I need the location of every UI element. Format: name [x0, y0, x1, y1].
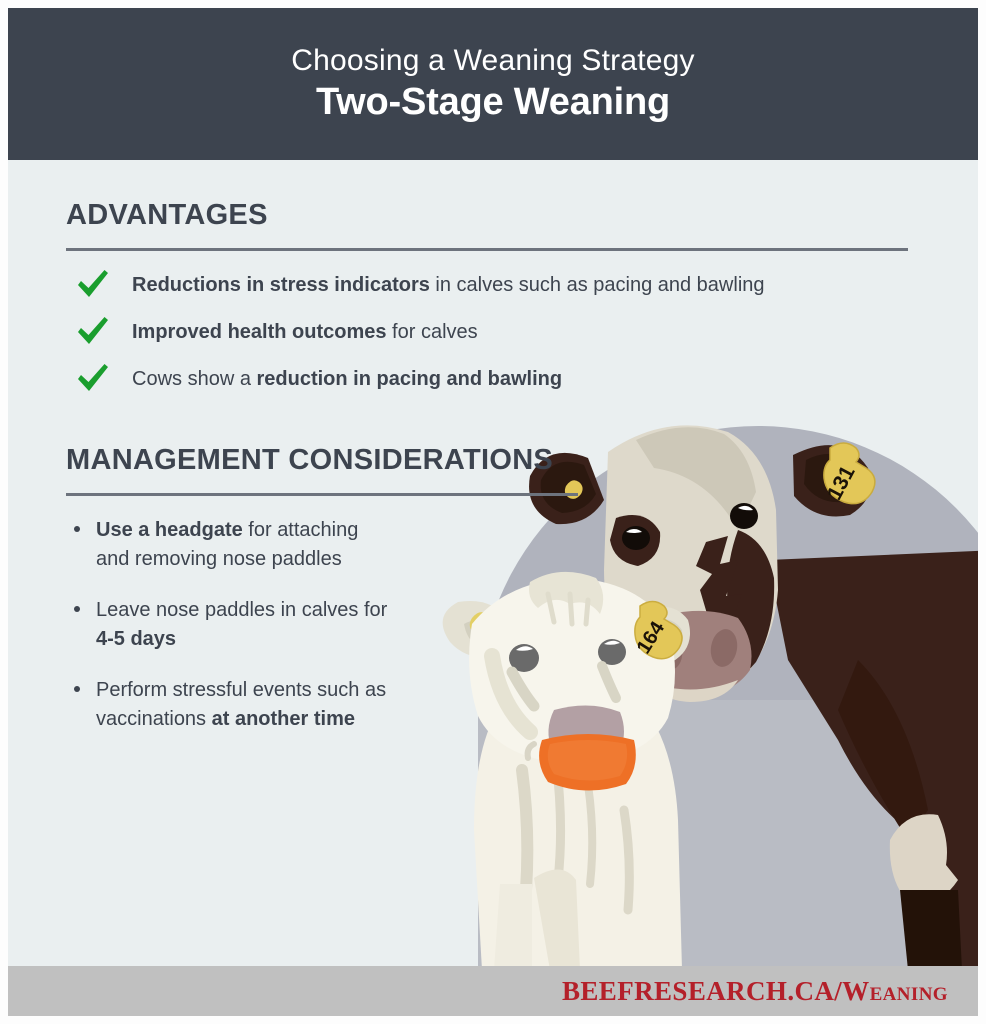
- management-item: Leave nose paddles in calves for 4-5 day…: [66, 596, 396, 654]
- management-list: Use a headgate for attaching and removin…: [66, 516, 396, 734]
- advantage-text: Reductions in stress indicators in calve…: [132, 274, 765, 296]
- cow-ear-tag: 131: [823, 443, 875, 504]
- advantage-item: Cows show a reduction in pacing and bawl…: [66, 367, 926, 392]
- advantage-item: Improved health outcomes for calves: [66, 320, 926, 345]
- advantages-divider: [66, 248, 908, 251]
- green-checkmark-icon: [76, 316, 110, 346]
- beefresearch-url[interactable]: BEEFRESEARCH.CA/Weaning: [562, 976, 948, 1007]
- poster-footer: BEEFRESEARCH.CA/Weaning: [8, 966, 978, 1016]
- poster-header: Choosing a Weaning Strategy Two-Stage We…: [8, 8, 978, 160]
- management-text: Use a headgate for attaching and removin…: [96, 519, 358, 570]
- bullet-dot-icon: [74, 526, 80, 532]
- advantage-rest: for calves: [387, 321, 478, 343]
- advantage-rest: in calves such as pacing and bawling: [430, 274, 765, 296]
- advantages-heading: ADVANTAGES: [66, 200, 926, 232]
- advantage-bold-lead: Reductions in stress indicators: [132, 274, 430, 296]
- management-bold-lead: Use a headgate: [96, 519, 243, 541]
- header-title: Two-Stage Weaning: [316, 82, 670, 124]
- advantages-list: Reductions in stress indicators in calve…: [66, 273, 926, 392]
- management-text: Leave nose paddles in calves for 4-5 day…: [96, 599, 387, 650]
- advantage-bold-lead: Improved health outcomes: [132, 321, 387, 343]
- management-text: Perform stressful events such as vaccina…: [96, 679, 386, 730]
- poster-body: ADVANTAGES Reductions in stress indicato…: [8, 160, 978, 966]
- management-lead: Leave nose paddles in calves for: [96, 599, 387, 621]
- advantage-text: Cows show a reduction in pacing and bawl…: [132, 368, 562, 390]
- green-checkmark-icon: [76, 269, 110, 299]
- management-section: MANAGEMENT CONSIDERATIONS Use a headgate…: [66, 445, 596, 756]
- advantage-lead: Cows show a: [132, 368, 257, 390]
- management-divider: [66, 493, 578, 496]
- header-subtitle: Choosing a Weaning Strategy: [291, 44, 694, 78]
- management-item: Use a headgate for attaching and removin…: [66, 516, 396, 574]
- management-bold-tail: 4-5 days: [96, 628, 176, 650]
- bullet-dot-icon: [74, 606, 80, 612]
- management-bold-tail: at another time: [212, 708, 355, 730]
- advantages-section: ADVANTAGES Reductions in stress indicato…: [66, 200, 926, 414]
- advantage-bold-tail: reduction in pacing and bawling: [257, 368, 563, 390]
- management-item: Perform stressful events such as vaccina…: [66, 676, 396, 734]
- infographic-poster: Choosing a Weaning Strategy Two-Stage We…: [0, 0, 986, 1024]
- advantage-item: Reductions in stress indicators in calve…: [66, 273, 926, 298]
- advantage-text: Improved health outcomes for calves: [132, 321, 478, 343]
- management-heading: MANAGEMENT CONSIDERATIONS: [66, 445, 596, 477]
- bullet-dot-icon: [74, 686, 80, 692]
- green-checkmark-icon: [76, 363, 110, 393]
